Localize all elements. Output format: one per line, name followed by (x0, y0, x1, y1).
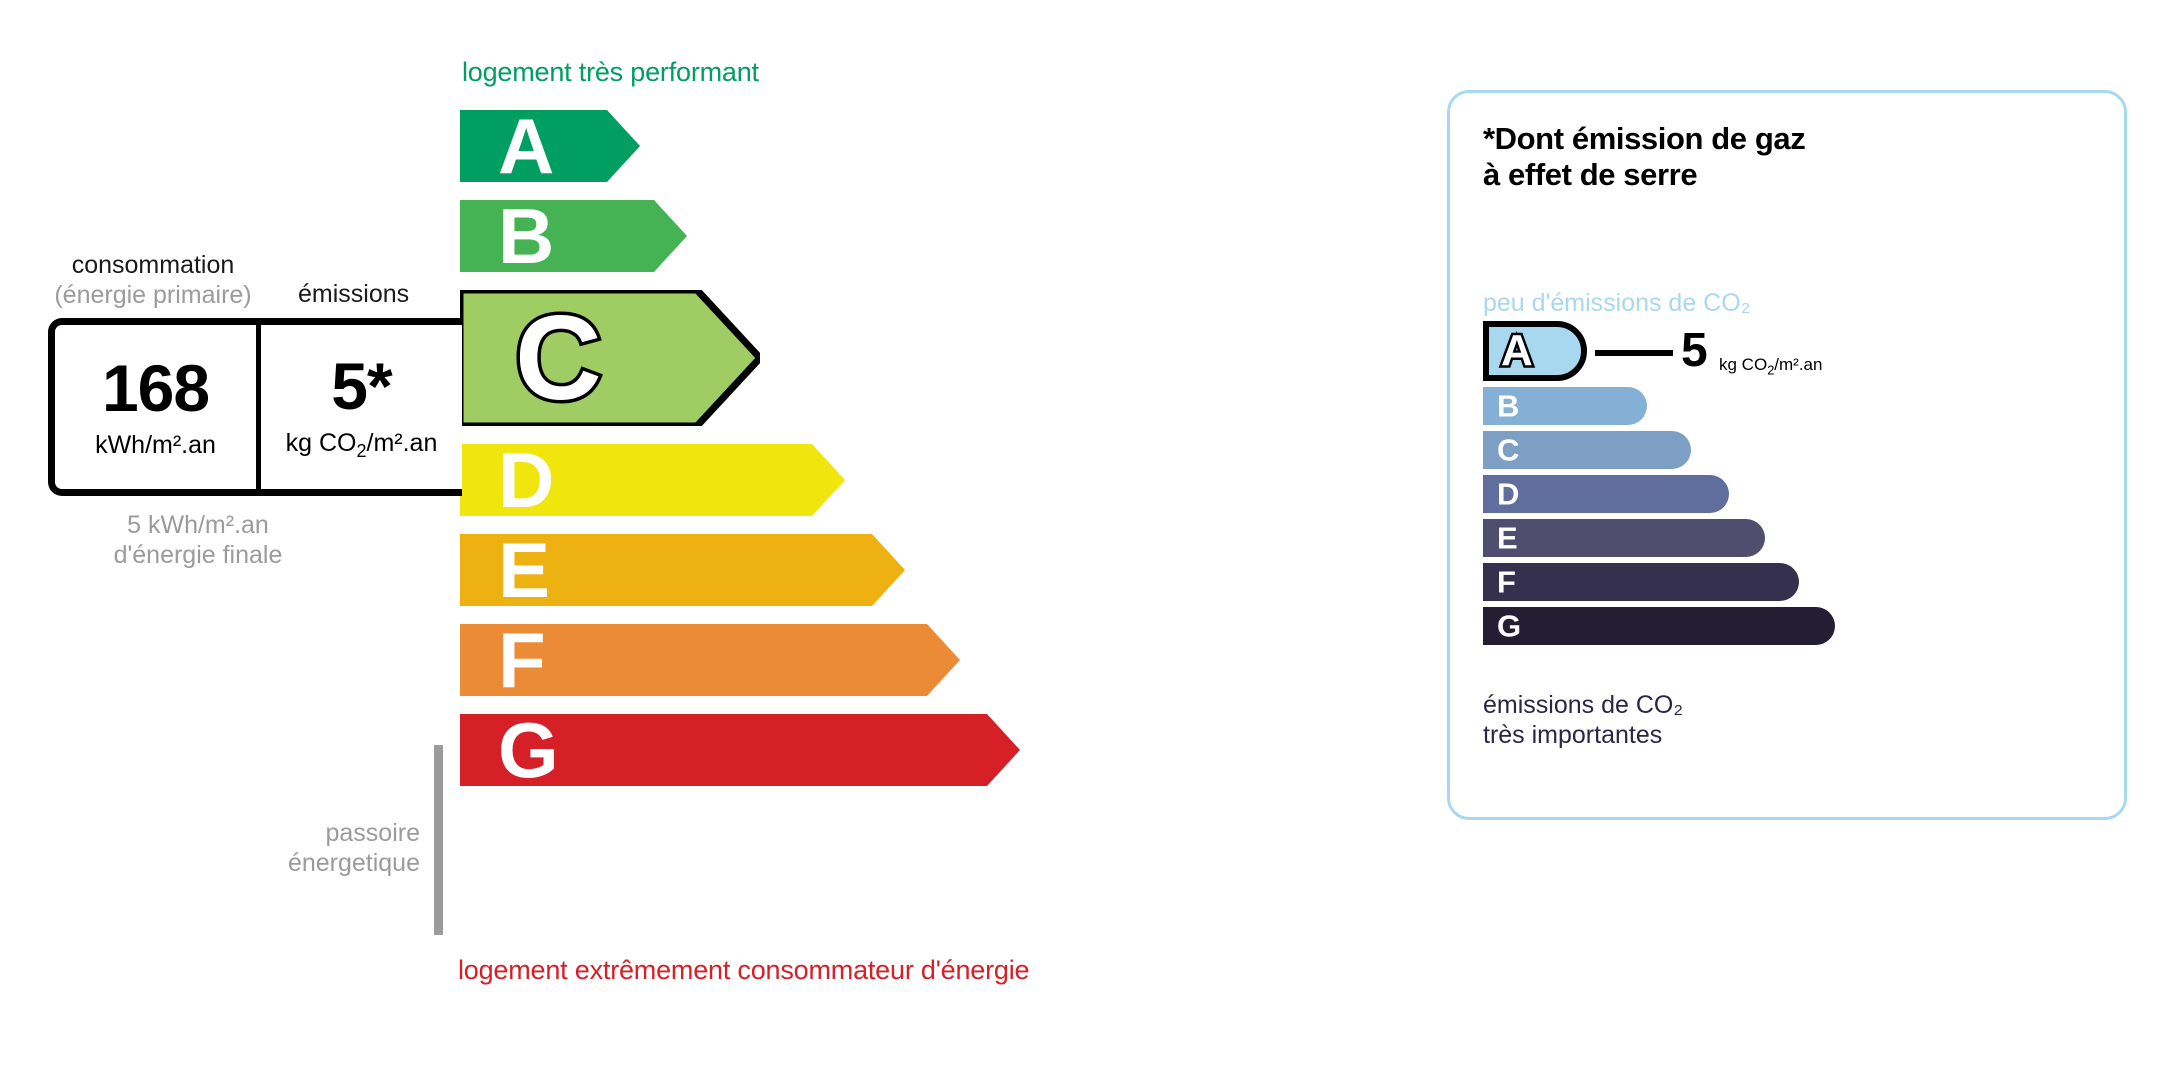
co2-grade-bar-b: B (1483, 387, 1647, 425)
consumption-cell: 168 kWh/m².an (55, 325, 261, 489)
co2-leader-line (1595, 350, 1673, 356)
final-energy-note: 5 kWh/m².an d'énergie finale (48, 510, 348, 570)
energy-grade-row-d: D (460, 444, 845, 516)
co2-grade-bars: A 5 kg CO2/m².an BCDEFG (1483, 321, 1835, 651)
energy-grade-row-b: B (460, 200, 687, 272)
energy-grade-letter-d: D (498, 441, 554, 519)
thermal-sieve-line2: énergetique (230, 848, 420, 878)
co2-bottom-caption: émissions de CO₂ très importantes (1483, 690, 1683, 750)
energy-grade-letter-a: A (498, 107, 554, 185)
energy-grade-row-c: C (460, 290, 760, 426)
emissions-cell: 5* kg CO2/m².an (261, 325, 462, 489)
co2-grade-bar-f: F (1483, 563, 1799, 601)
co2-grade-letter-b: B (1497, 391, 1519, 422)
co2-grade-bar-g: G (1483, 607, 1835, 645)
co2-grade-letter-d: D (1497, 479, 1519, 510)
thermal-sieve-label: passoire énergetique (230, 818, 420, 878)
co2-panel-title: *Dont émission de gaz à effet de serre (1483, 121, 1805, 193)
co2-grade-row-c: C (1483, 431, 1835, 469)
thermal-sieve-line1: passoire (230, 818, 420, 848)
final-energy-line1: 5 kWh/m².an (48, 510, 348, 540)
consumption-header-label: consommation (72, 251, 235, 279)
co2-bottom-line2: très importantes (1483, 720, 1683, 750)
co2-grade-letter-g: G (1497, 611, 1521, 642)
energy-grade-letter-g: G (498, 711, 559, 789)
co2-grade-a-letter: A (1501, 329, 1533, 373)
co2-title-line1: *Dont émission de gaz (1483, 121, 1805, 157)
energy-performance-diagram: logement très performant consommation (é… (0, 0, 1400, 1079)
energy-value-box: 168 kWh/m².an 5* kg CO2/m².an (48, 318, 462, 496)
co2-grade-bar-d: D (1483, 475, 1729, 513)
energy-grade-letter-e: E (498, 531, 550, 609)
co2-grade-row-f: F (1483, 563, 1835, 601)
thermal-sieve-bracket (434, 745, 443, 935)
energy-grade-letter-f: F (498, 621, 546, 699)
energy-grade-letter-b: B (498, 197, 554, 275)
co2-current-grade-row: A 5 kg CO2/m².an (1483, 321, 1835, 381)
co2-value: 5 (1681, 327, 1708, 375)
co2-grade-row-b: B (1483, 387, 1835, 425)
co2-emissions-panel: *Dont émission de gaz à effet de serre p… (1447, 90, 2127, 820)
co2-top-caption: peu d'émissions de CO₂ (1483, 289, 1750, 318)
emissions-value: 5* (331, 353, 391, 419)
consumption-header: consommation (énergie primaire) (48, 250, 258, 310)
energy-grade-row-g: G (460, 714, 1020, 786)
emissions-unit: kg CO2/m².an (286, 429, 438, 462)
consumption-unit: kWh/m².an (95, 431, 216, 460)
energy-bottom-caption: logement extrêmement consommateur d'éner… (458, 955, 1029, 986)
co2-grade-letter-e: E (1497, 523, 1518, 554)
energy-grade-arrow-c (460, 290, 760, 426)
co2-title-line2: à effet de serre (1483, 157, 1805, 193)
co2-value-unit: kg CO2/m².an (1719, 355, 1822, 377)
energy-grade-letter-c: C (515, 298, 602, 418)
co2-grade-bar-c: C (1483, 431, 1691, 469)
energy-grade-row-e: E (460, 534, 905, 606)
energy-top-caption: logement très performant (462, 57, 759, 88)
co2-grade-bar-e: E (1483, 519, 1765, 557)
energy-grade-row-f: F (460, 624, 960, 696)
emissions-header: émissions (298, 280, 409, 309)
co2-grade-row-e: E (1483, 519, 1835, 557)
co2-grade-letter-f: F (1497, 567, 1516, 598)
co2-grade-row-d: D (1483, 475, 1835, 513)
consumption-value: 168 (102, 355, 209, 421)
energy-grade-arrow-b (460, 200, 687, 272)
co2-grade-letter-c: C (1497, 435, 1519, 466)
co2-bottom-line1: émissions de CO₂ (1483, 690, 1683, 720)
final-energy-line2: d'énergie finale (48, 540, 348, 570)
co2-grade-row-g: G (1483, 607, 1835, 645)
energy-grade-row-a: A (460, 110, 640, 182)
consumption-header-sublabel: (énergie primaire) (48, 280, 258, 310)
co2-grade-a-shape (1483, 321, 1587, 381)
